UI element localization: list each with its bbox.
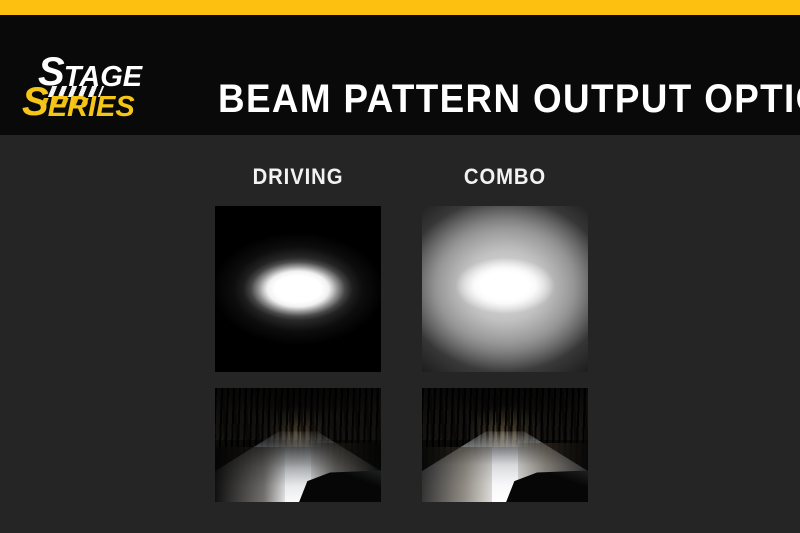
beam-gradient-combo [422,206,588,372]
beam-pattern-infographic: S TAGE S ERIES BEAM PATTERN OUTPUT OPTIO… [0,0,800,533]
road-photo-combo [422,388,588,502]
column-label-combo: COMBO [429,164,582,190]
photo-left-shoulder [422,447,492,502]
stage-series-logo: S TAGE S ERIES [22,48,182,128]
logo-series-initial: S [22,82,48,122]
beam-pattern-image-combo [422,206,588,372]
page-title: BEAM PATTERN OUTPUT OPTIONS [218,76,733,122]
top-accent-bar [0,0,800,15]
photo-left-shoulder [215,447,285,502]
column-label-driving: DRIVING [222,164,375,190]
road-photo-driving [215,388,381,502]
beam-pattern-image-driving [215,206,381,372]
header-bar: S TAGE S ERIES BEAM PATTERN OUTPUT OPTIO… [0,15,800,135]
beam-gradient-driving [215,206,381,372]
logo-line-series: S ERIES [22,82,135,122]
logo-series-text: ERIES [48,93,135,122]
